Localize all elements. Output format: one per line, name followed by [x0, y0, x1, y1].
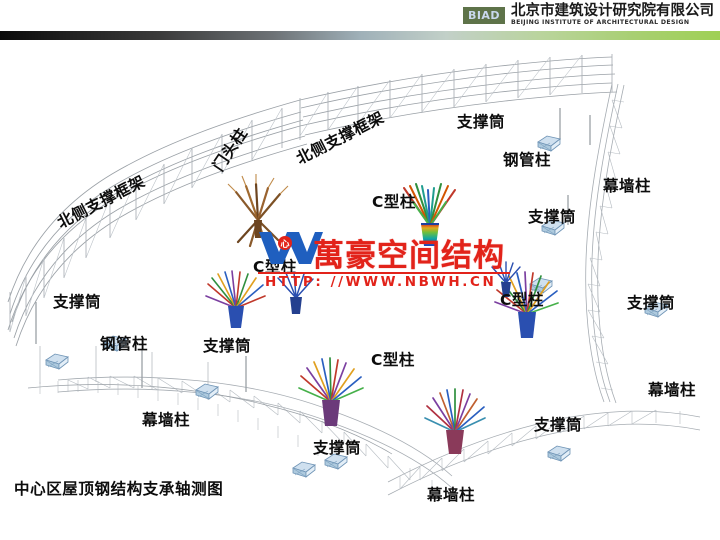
- slide-canvas: BIAD 北京市建筑设计研究院有限公司 BEIJING INSTITUTE OF…: [0, 0, 720, 540]
- curtain-wall-bottom-left: [58, 376, 452, 492]
- annotation-label-support-tube-6: 支撑筒: [534, 413, 582, 435]
- tree-column-cluster-c: [299, 358, 363, 426]
- tree-column-cluster-d: [425, 389, 485, 454]
- annotation-label-c-column-1: C型柱: [372, 190, 416, 212]
- figure-caption: 中心区屋顶钢结构支承轴测图: [14, 477, 223, 499]
- company-name-en: BEIJING INSTITUTE OF ARCHITECTURAL DESIG…: [511, 20, 714, 27]
- annotation-label-c-column-3: C型柱: [500, 288, 544, 310]
- annotation-label-c-column-4: C型柱: [371, 348, 415, 370]
- annotation-label-steel-pipe-col-2: 钢管柱: [100, 332, 148, 354]
- biad-logo-text: 北京市建筑设计研究院有限公司 BEIJING INSTITUTE OF ARCH…: [511, 4, 714, 27]
- annotation-label-support-tube-4: 支撑筒: [53, 290, 101, 312]
- svg-text:心: 心: [280, 239, 289, 250]
- watermark: 心 萬豪空间结构 HTTP: //WWW.NBWH.CN: [255, 228, 520, 288]
- annotation-label-support-tube-5: 支撑筒: [203, 334, 251, 356]
- annotation-label-support-tube-1: 支撑筒: [457, 110, 505, 132]
- annotation-label-support-tube-7: 支撑筒: [313, 436, 361, 458]
- annotation-label-curtain-col-1: 幕墙柱: [603, 174, 651, 196]
- annotation-label-curtain-col-4: 幕墙柱: [427, 483, 475, 505]
- annotation-label-curtain-col-2: 幕墙柱: [648, 378, 696, 400]
- slide-header: BIAD 北京市建筑设计研究院有限公司 BEIJING INSTITUTE OF…: [0, 0, 720, 40]
- annotation-label-curtain-col-3: 幕墙柱: [142, 408, 190, 430]
- biad-logo-mark: BIAD: [463, 7, 505, 24]
- annotation-label-steel-pipe-col-1: 钢管柱: [503, 148, 551, 170]
- header-gradient-bar: [0, 31, 720, 40]
- company-name-cn: 北京市建筑设计研究院有限公司: [511, 4, 714, 19]
- biad-logo: BIAD 北京市建筑设计研究院有限公司 BEIJING INSTITUTE OF…: [463, 4, 714, 27]
- annotation-label-support-tube-3: 支撑筒: [627, 291, 675, 313]
- watermark-url: HTTP: //WWW.NBWH.CN: [265, 274, 496, 290]
- curtain-wall-right: [586, 84, 624, 403]
- annotation-label-support-tube-2: 支撑筒: [528, 205, 576, 227]
- watermark-brand: 萬豪空间结构: [313, 230, 505, 275]
